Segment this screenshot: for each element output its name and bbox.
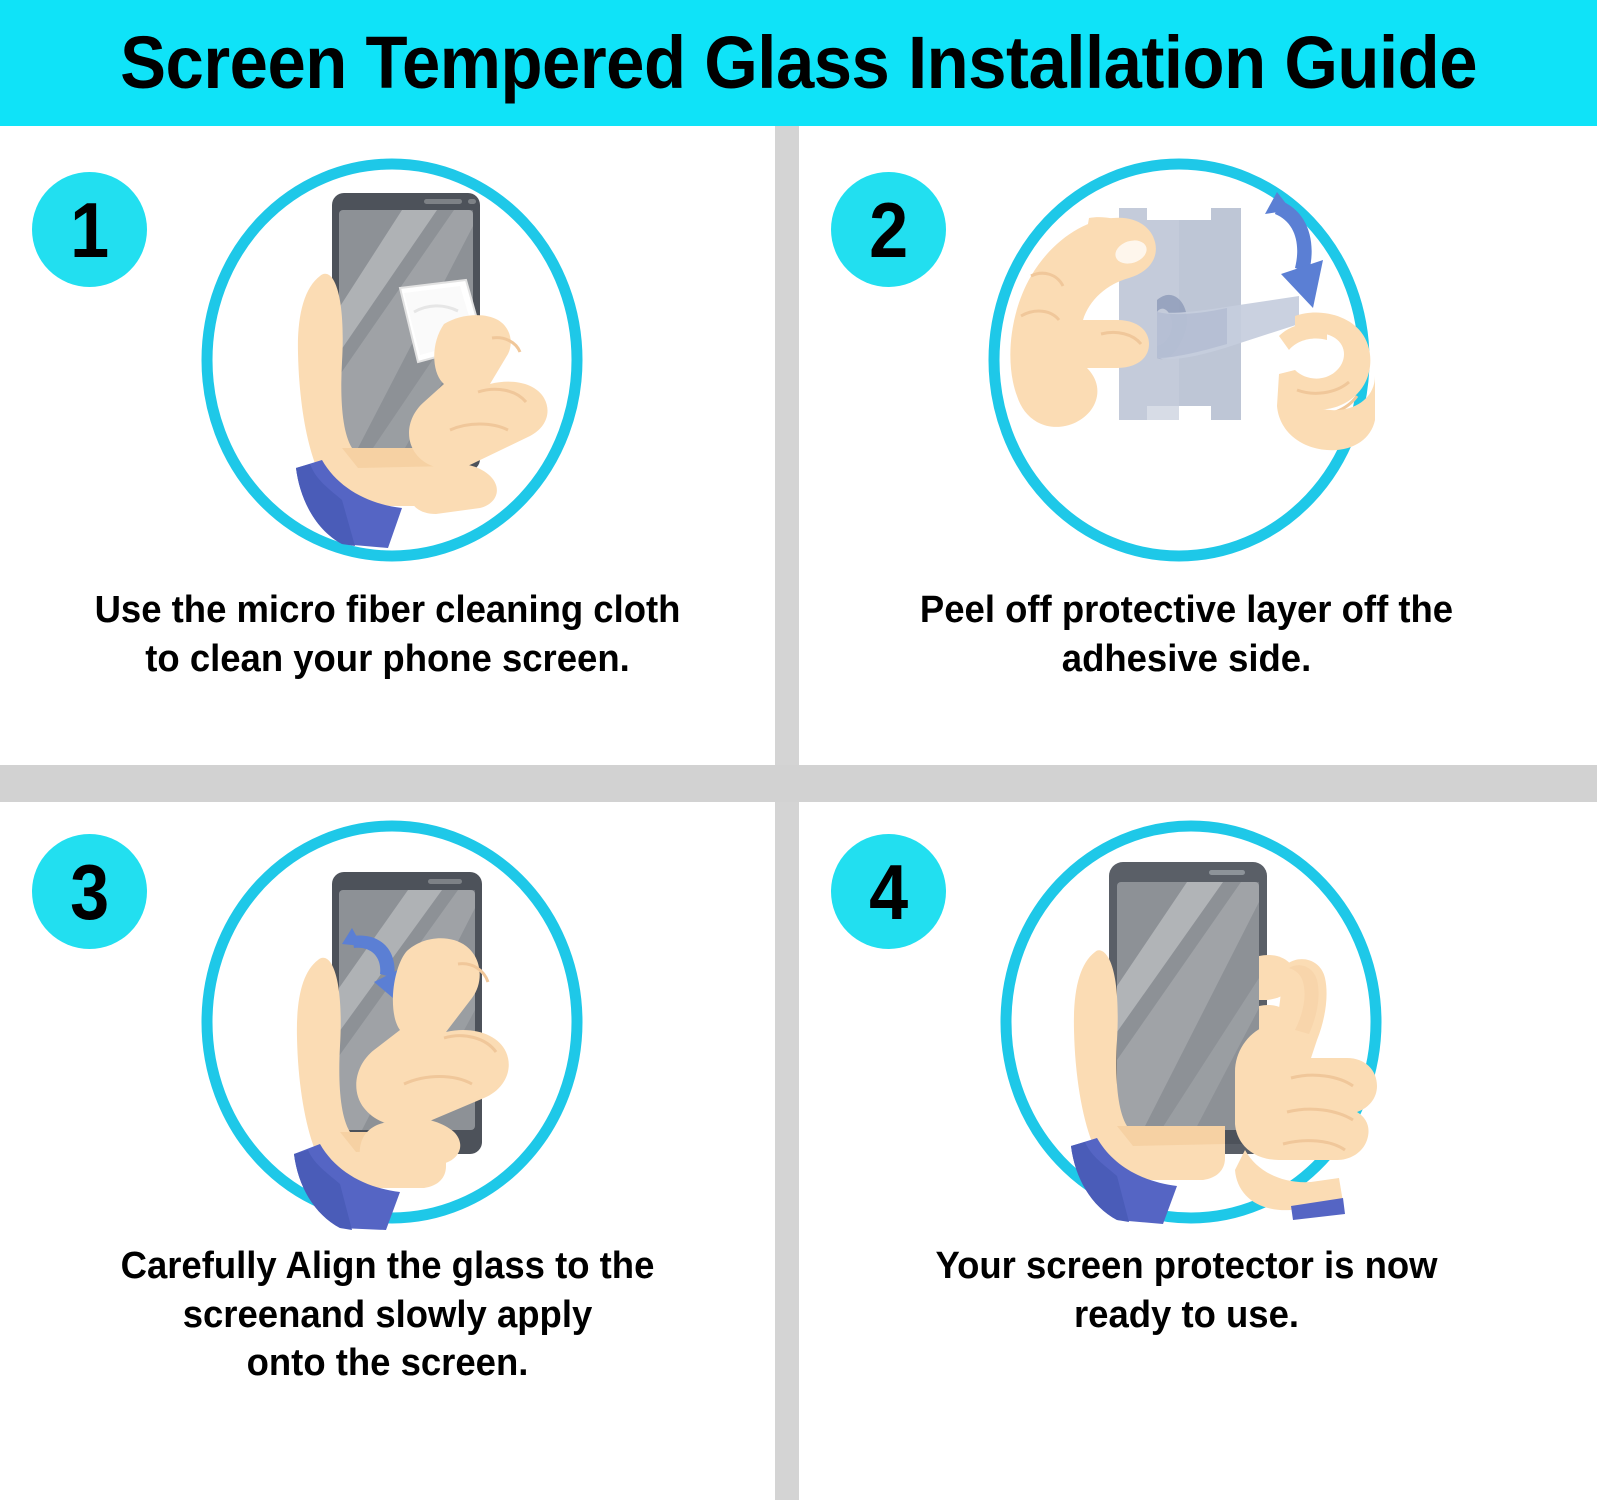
caption-line: Your screen protector is now — [853, 1242, 1520, 1291]
step-panel-1: 1 — [0, 126, 775, 765]
step-panel-3: 3 — [0, 802, 775, 1500]
step-caption-1: Use the micro fiber cleaning cloth to cl… — [54, 586, 721, 683]
caption-line: onto the screen. — [54, 1339, 721, 1388]
caption-line: Carefully Align the glass to the — [54, 1242, 721, 1291]
step-caption-3: Carefully Align the glass to the screena… — [54, 1242, 721, 1388]
illustration-peel-film — [979, 148, 1379, 568]
illustration-clean-screen — [192, 148, 592, 568]
step-number-badge-3: 3 — [32, 834, 147, 949]
step-number-badge-4: 4 — [831, 834, 946, 949]
illustration-align-glass — [192, 810, 592, 1230]
clean-screen-svg — [192, 148, 592, 568]
peel-film-svg — [979, 148, 1379, 568]
step-number-label: 4 — [869, 853, 908, 931]
step-number-badge-1: 1 — [32, 172, 147, 287]
thumbs-up-svg — [991, 810, 1391, 1230]
vertical-divider — [775, 126, 799, 1500]
caption-line: adhesive side. — [853, 635, 1520, 684]
caption-line: ready to use. — [853, 1291, 1520, 1340]
step-number-label: 1 — [70, 191, 109, 269]
step-caption-4: Your screen protector is now ready to us… — [853, 1242, 1520, 1339]
caption-line: screenand slowly apply — [54, 1291, 721, 1340]
align-glass-svg — [192, 810, 592, 1230]
step-number-badge-2: 2 — [831, 172, 946, 287]
step-panel-2: 2 — [799, 126, 1574, 765]
caption-line: Use the micro fiber cleaning cloth — [54, 586, 721, 635]
step-caption-2: Peel off protective layer off the adhesi… — [853, 586, 1520, 683]
horizontal-divider — [0, 765, 1597, 802]
caption-line: to clean your phone screen. — [54, 635, 721, 684]
step-number-label: 3 — [70, 853, 109, 931]
step-number-label: 2 — [869, 191, 908, 269]
steps-grid: 1 — [0, 126, 1597, 1500]
illustration-ready-thumbs-up — [991, 810, 1391, 1230]
header-banner: Screen Tempered Glass Installation Guide — [0, 0, 1597, 126]
step-panel-4: 4 — [799, 802, 1574, 1500]
caption-line: Peel off protective layer off the — [853, 586, 1520, 635]
page-title: Screen Tempered Glass Installation Guide — [120, 26, 1477, 100]
